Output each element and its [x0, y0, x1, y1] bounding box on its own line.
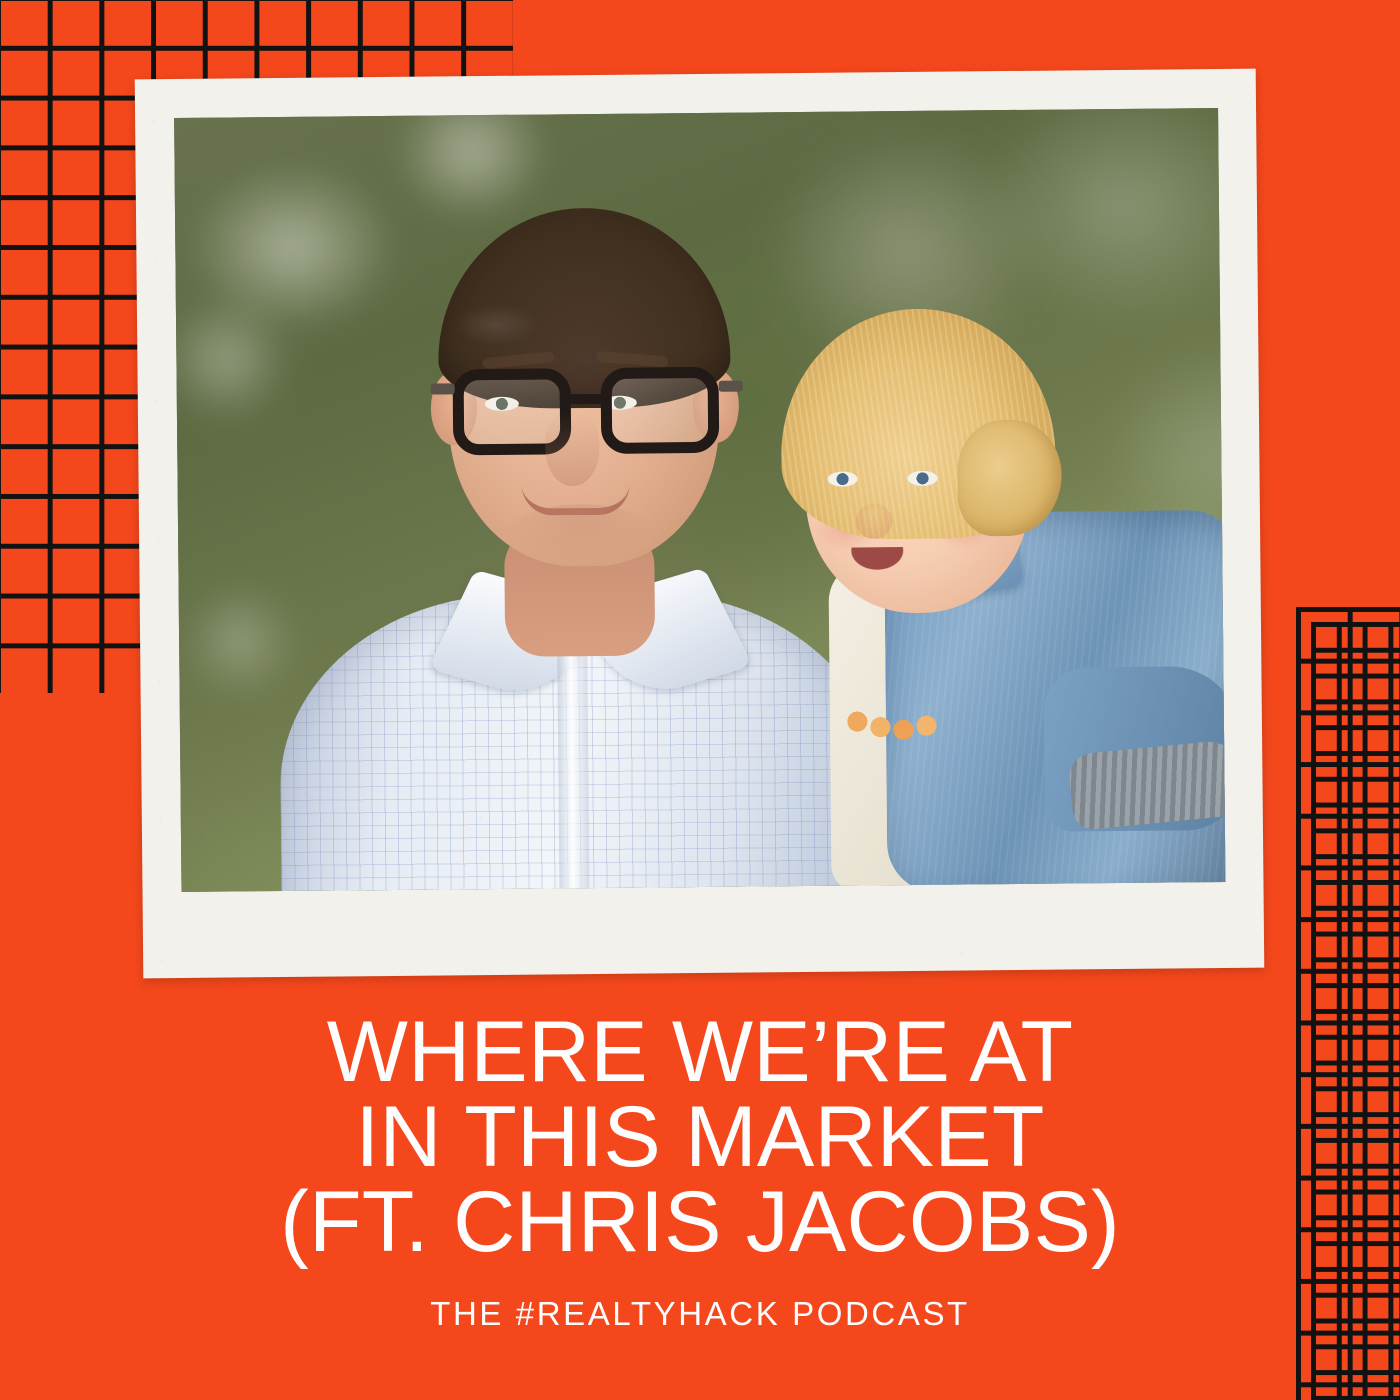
podcast-episode-cover: WHERE WE’RE AT IN THIS MARKET (FT. CHRIS… [0, 0, 1400, 1400]
photo-vignette [174, 108, 1225, 892]
guest-photo [174, 108, 1225, 892]
polaroid-frame [135, 69, 1265, 979]
episode-title-line-3: (FT. CHRIS JACOBS) [0, 1180, 1400, 1265]
episode-title-line-1: WHERE WE’RE AT [0, 1010, 1400, 1095]
cover-text-block: WHERE WE’RE AT IN THIS MARKET (FT. CHRIS… [0, 1010, 1400, 1333]
show-name: THE #REALTYHACK PODCAST [0, 1295, 1400, 1333]
episode-title-line-2: IN THIS MARKET [0, 1095, 1400, 1180]
episode-title: WHERE WE’RE AT IN THIS MARKET (FT. CHRIS… [0, 1010, 1400, 1265]
